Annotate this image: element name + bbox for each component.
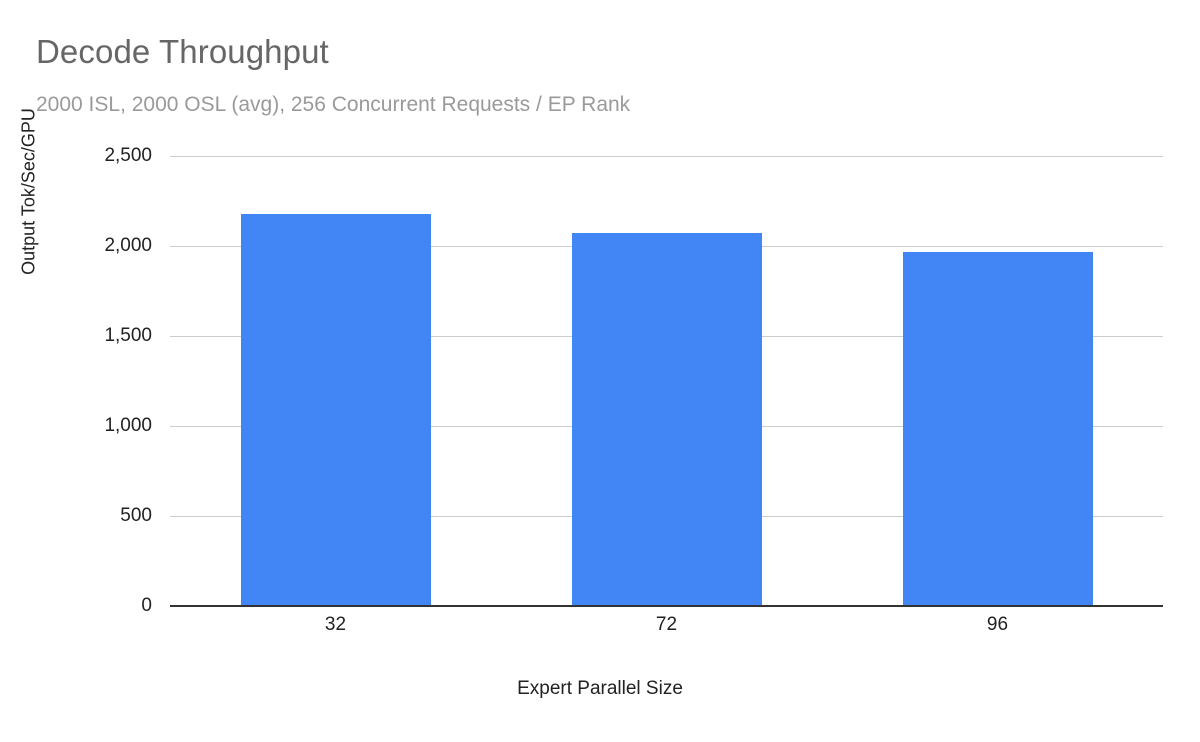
bar[interactable] [572, 233, 762, 606]
y-axis-title: Output Tok/Sec/GPU [19, 42, 40, 342]
x-axis-line [170, 605, 1163, 607]
x-tick-label: 72 [656, 614, 677, 636]
bar-slot [501, 156, 832, 606]
y-tick-label: 2,500 [0, 145, 152, 167]
chart-container: Decode Throughput 2000 ISL, 2000 OSL (av… [0, 0, 1200, 742]
x-axis-title: Expert Parallel Size [0, 678, 1200, 700]
chart-subtitle: 2000 ISL, 2000 OSL (avg), 256 Concurrent… [36, 92, 630, 117]
bar-slot [832, 156, 1163, 606]
bars-layer [170, 156, 1163, 606]
bar[interactable] [241, 214, 431, 606]
bar[interactable] [903, 252, 1093, 606]
y-tick-label: 0 [0, 595, 152, 617]
y-tick-label: 2,000 [0, 235, 152, 257]
bar-slot [170, 156, 501, 606]
chart-title: Decode Throughput [36, 33, 329, 71]
y-tick-label: 1,000 [0, 415, 152, 437]
x-tick-label: 32 [325, 614, 346, 636]
plot-area [170, 156, 1163, 606]
x-tick-label: 96 [987, 614, 1008, 636]
y-tick-label: 500 [0, 505, 152, 527]
y-tick-label: 1,500 [0, 325, 152, 347]
